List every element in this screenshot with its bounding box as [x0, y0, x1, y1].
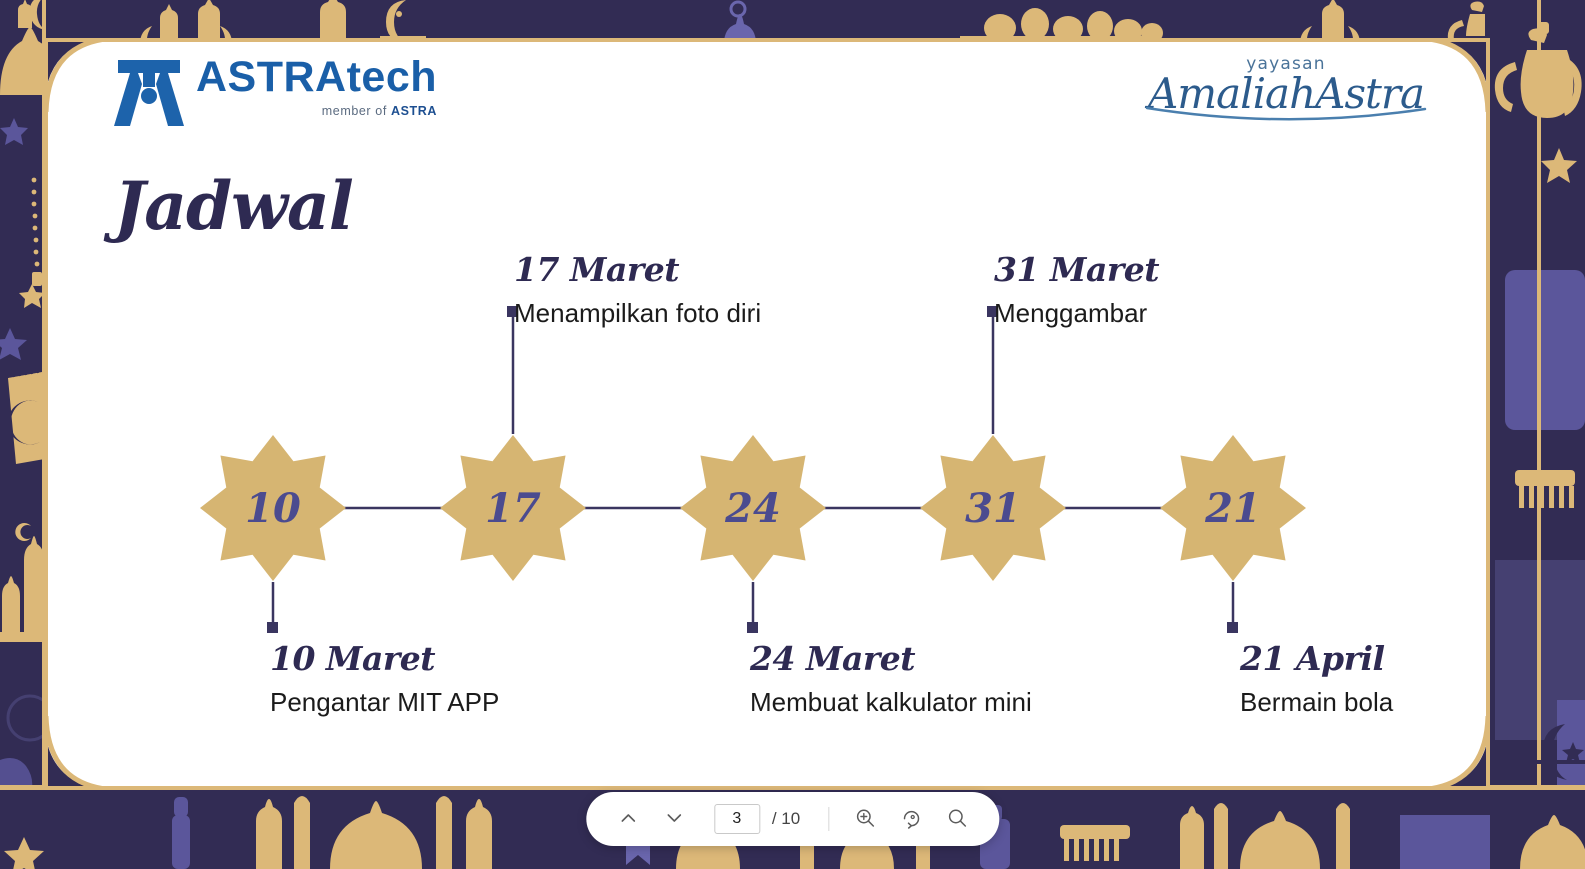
timeline-node-17[interactable]: 17 — [440, 435, 586, 581]
rotate-icon — [900, 807, 922, 832]
toolbar-divider — [828, 807, 829, 831]
timeline-label-10: 10 Maret Pengantar MIT APP — [270, 639, 499, 718]
timeline-node-24[interactable]: 24 — [680, 435, 826, 581]
page-total-label: / 10 — [772, 809, 800, 829]
next-page-button[interactable] — [654, 799, 694, 839]
timeline-label-date: 24 Maret — [750, 639, 1032, 678]
chevron-up-icon — [618, 808, 638, 831]
slide-content-card: ASTRAtech member of ASTRA yayasan Amalia… — [44, 38, 1490, 790]
rotate-button[interactable] — [891, 799, 931, 839]
slide-viewer: ASTRAtech member of ASTRA yayasan Amalia… — [0, 0, 1585, 869]
timeline-label-date: 10 Maret — [270, 639, 499, 678]
timeline-node-31[interactable]: 31 — [920, 435, 1066, 581]
chevron-down-icon — [664, 808, 684, 831]
timeline-node-21[interactable]: 21 — [1160, 435, 1306, 581]
pdf-toolbar: 3 / 10 — [586, 792, 999, 846]
left-border-decoration — [0, 0, 46, 869]
timeline-label-17: 17 Maret Menampilkan foto diri — [514, 250, 761, 329]
timeline-label-description: Membuat kalkulator mini — [750, 687, 1032, 718]
zoom-in-icon — [854, 807, 876, 832]
timeline-label-description: Menggambar — [994, 298, 1159, 329]
timeline: 10 17 24 31 — [48, 42, 1486, 786]
timeline-label-description: Pengantar MIT APP — [270, 687, 499, 718]
search-icon — [946, 807, 968, 832]
timeline-label-21: 21 April Bermain bola — [1240, 639, 1393, 718]
timeline-label-31: 31 Maret Menggambar — [994, 250, 1159, 329]
timeline-node-number: 24 — [725, 485, 781, 532]
timeline-node-10[interactable]: 10 — [200, 435, 346, 581]
timeline-label-date: 31 Maret — [994, 250, 1159, 289]
zoom-in-button[interactable] — [845, 799, 885, 839]
timeline-label-date: 21 April — [1240, 639, 1393, 678]
search-button[interactable] — [937, 799, 977, 839]
right-border-decoration — [1485, 0, 1585, 869]
timeline-node-number: 10 — [245, 485, 301, 532]
timeline-label-description: Bermain bola — [1240, 687, 1393, 718]
timeline-node-number: 21 — [1205, 485, 1261, 532]
timeline-label-description: Menampilkan foto diri — [514, 298, 761, 329]
previous-page-button[interactable] — [608, 799, 648, 839]
timeline-label-date: 17 Maret — [514, 250, 761, 289]
timeline-node-number: 31 — [965, 485, 1021, 532]
current-page-input[interactable]: 3 — [714, 804, 760, 834]
timeline-label-24: 24 Maret Membuat kalkulator mini — [750, 639, 1032, 718]
timeline-node-number: 17 — [485, 485, 541, 532]
